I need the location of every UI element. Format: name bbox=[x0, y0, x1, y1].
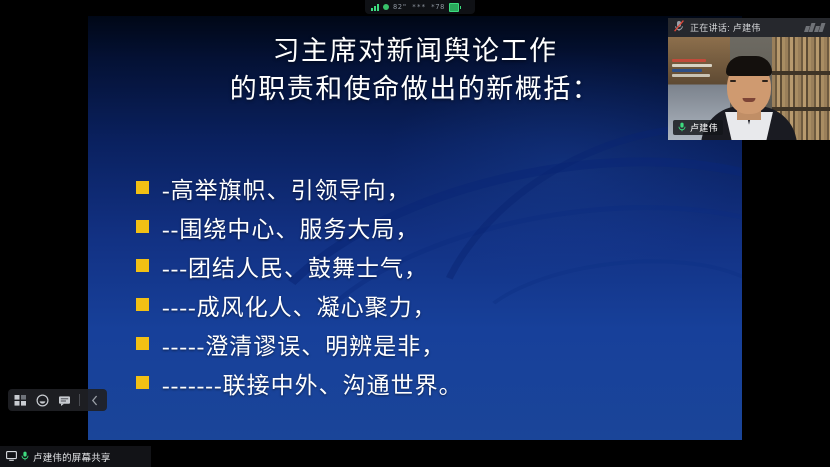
list-item: ----成风化人、凝心聚力， bbox=[136, 285, 722, 324]
screen-share-icon bbox=[6, 448, 17, 466]
bullet-marker-icon bbox=[136, 376, 149, 389]
toolbar-divider bbox=[79, 394, 80, 406]
mic-active-icon bbox=[21, 448, 29, 466]
audio-wave-icon bbox=[805, 23, 824, 32]
bullet-marker-icon bbox=[136, 259, 149, 272]
screen-share-status-bar: 卢建伟的屏幕共享 bbox=[0, 446, 151, 467]
list-item: -----澄清谬误、明辨是非， bbox=[136, 324, 722, 363]
floating-toolbar[interactable] bbox=[8, 389, 107, 411]
presentation-slide: 习主席对新闻舆论工作 的职责和使命做出的新概括： -高举旗帜、引领导向， --围… bbox=[88, 16, 742, 440]
bullet-marker-icon bbox=[136, 181, 149, 194]
participant-name-badge: 卢建伟 bbox=[673, 120, 723, 135]
slide-title: 习主席对新闻舆论工作 的职责和使命做出的新概括： bbox=[88, 32, 742, 109]
participant-video-feed[interactable]: 卢建伟 bbox=[668, 37, 830, 140]
battery-icon bbox=[449, 3, 459, 12]
chat-icon[interactable] bbox=[57, 393, 72, 408]
mic-muted-icon[interactable] bbox=[674, 19, 684, 37]
zoom-meeting-window: 习主席对新闻舆论工作 的职责和使命做出的新概括： -高举旗帜、引领导向， --围… bbox=[0, 0, 830, 467]
slide-bullet-list: -高举旗帜、引领导向， --围绕中心、服务大局， ---团结人民、鼓舞士气， -… bbox=[136, 168, 722, 402]
bullet-text: -----澄清谬误、明辨是非， bbox=[162, 327, 445, 361]
active-speaker-panel[interactable]: 正在讲话: 卢建伟 bbox=[668, 18, 830, 140]
slide-title-line: 的职责和使命做出的新概括： bbox=[88, 70, 742, 108]
bullet-marker-icon bbox=[136, 337, 149, 350]
video-panel-header: 正在讲话: 卢建伟 bbox=[668, 18, 830, 37]
bullet-marker-icon bbox=[136, 220, 149, 233]
bullet-text: -高举旗帜、引领导向， bbox=[162, 171, 411, 205]
bullet-text: -------联接中外、沟通世界。 bbox=[162, 366, 463, 400]
shared-screen-stage[interactable]: 习主席对新闻舆论工作 的职责和使命做出的新概括： -高举旗帜、引领导向， --围… bbox=[88, 16, 742, 440]
speaking-label: 正在讲话: 卢建伟 bbox=[690, 21, 761, 34]
list-item: --围绕中心、服务大局， bbox=[136, 207, 722, 246]
list-item: -高举旗帜、引领导向， bbox=[136, 168, 722, 207]
slide-title-line: 习主席对新闻舆论工作 bbox=[88, 32, 742, 70]
bullet-text: ---团结人民、鼓舞士气， bbox=[162, 249, 428, 283]
bullet-text: ----成风化人、凝心聚力， bbox=[162, 288, 437, 322]
participant-name: 卢建伟 bbox=[690, 121, 718, 134]
reaction-icon[interactable] bbox=[35, 393, 50, 408]
mic-active-icon bbox=[678, 119, 686, 137]
list-item: -------联接中外、沟通世界。 bbox=[136, 363, 722, 402]
list-item: ---团结人民、鼓舞士气， bbox=[136, 246, 722, 285]
bullet-text: --围绕中心、服务大局， bbox=[162, 210, 419, 244]
device-status-text: 82" *** *78 bbox=[393, 3, 445, 11]
gallery-view-icon[interactable] bbox=[13, 393, 28, 408]
bullet-marker-icon bbox=[136, 298, 149, 311]
chevron-left-icon[interactable] bbox=[87, 393, 102, 408]
share-status-text: 卢建伟的屏幕共享 bbox=[33, 450, 111, 464]
signal-bars-icon bbox=[371, 4, 379, 11]
status-dot-icon bbox=[383, 4, 389, 10]
device-status-bar: 82" *** *78 bbox=[365, 0, 475, 14]
bottom-strip bbox=[151, 446, 830, 467]
